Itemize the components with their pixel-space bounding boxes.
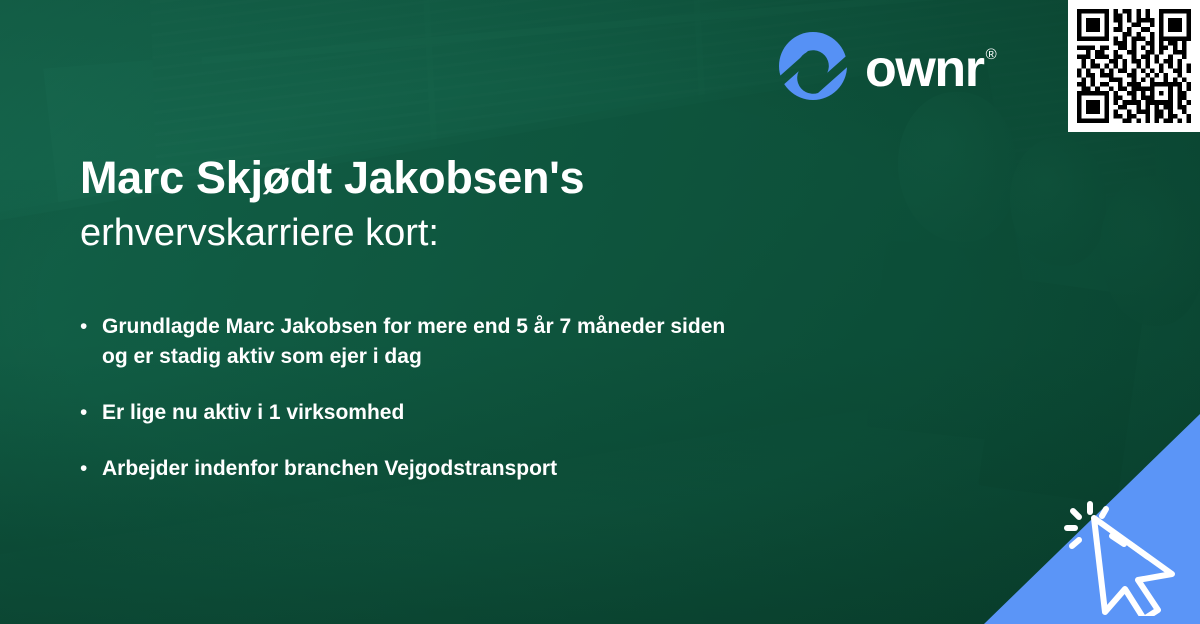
qr-code[interactable] [1068,0,1200,132]
list-item-line: Grundlagde Marc Jakobsen for mere end 5 … [102,315,725,338]
headline-name: Marc Skjødt Jakobsen's [80,152,980,204]
ownr-circle-swoosh-icon [778,31,848,106]
ownr-wordmark: ownr ® [865,43,997,95]
bullet-dot-icon: • [80,454,102,484]
headline-subtitle: erhvervskarriere kort: [80,209,980,258]
list-item: • Grundlagde Marc Jakobsen for mere end … [80,312,1030,372]
headline: Marc Skjødt Jakobsen's erhvervskarriere … [80,152,980,258]
ownr-logo[interactable]: ownr ® [778,31,997,106]
list-item: • Er lige nu aktiv i 1 virksomhed [80,398,1030,428]
career-summary-list: • Grundlagde Marc Jakobsen for mere end … [80,312,1030,510]
registered-trademark-icon: ® [986,47,997,62]
list-item: • Arbejder indenfor branchen Vejgodstran… [80,454,1030,484]
bullet-dot-icon: • [80,398,102,428]
bullet-dot-icon: • [80,312,102,342]
click-cursor-icon [1064,500,1186,616]
list-item-text: Er lige nu aktiv i 1 virksomhed [102,398,404,428]
list-item-line-continued: og er stadig aktiv som ejer i dag [102,342,725,372]
ownr-wordmark-text: ownr [865,43,984,95]
list-item-text: Grundlagde Marc Jakobsen for mere end 5 … [102,312,725,372]
card-content: Marc Skjødt Jakobsen's erhvervskarriere … [0,0,1200,624]
list-item-text: Arbejder indenfor branchen Vejgodstransp… [102,454,557,484]
business-card-banner: Marc Skjødt Jakobsen's erhvervskarriere … [0,0,1200,624]
